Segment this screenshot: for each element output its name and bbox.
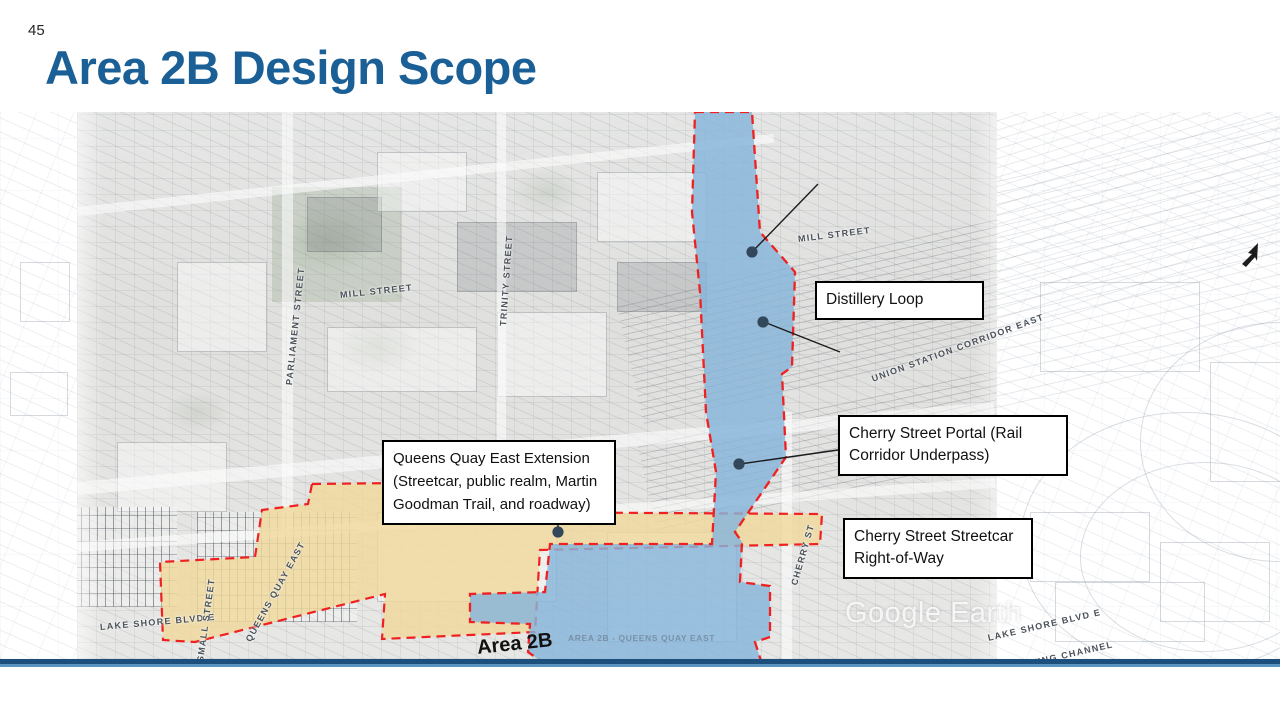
callout-cherry-street-portal[interactable]: Cherry Street Portal (Rail Corridor Unde… (838, 415, 1068, 476)
map-figure[interactable]: Google Earth Area 2A Area 2B AREA 2B - Q… (0, 112, 1280, 659)
callout-distillery-loop[interactable]: Distillery Loop (815, 281, 984, 320)
slide-number: 45 (28, 22, 45, 39)
slide-canvas: 45 Area 2B Design Scope (0, 0, 1280, 720)
footer-bar: TORONTO TTC WATERFRONToronto Waterfront … (0, 667, 1280, 720)
anchor-dot-portal (757, 316, 768, 327)
callout-queens-quay-east-extension[interactable]: Queens Quay East Extension (Streetcar, p… (382, 440, 616, 525)
north-arrow-icon (1236, 240, 1266, 270)
anchor-dot-qqe (552, 526, 563, 537)
callout-cherry-street-row[interactable]: Cherry Street Streetcar Right-of-Way (843, 518, 1033, 579)
page-title: Area 2B Design Scope (45, 40, 537, 95)
anchor-dot-row (733, 458, 744, 469)
study-area-polygons (0, 112, 1280, 659)
area-2b-gis-label: AREA 2B - QUEENS QUAY EAST (568, 633, 715, 643)
anchor-dot-distillery (746, 246, 757, 257)
